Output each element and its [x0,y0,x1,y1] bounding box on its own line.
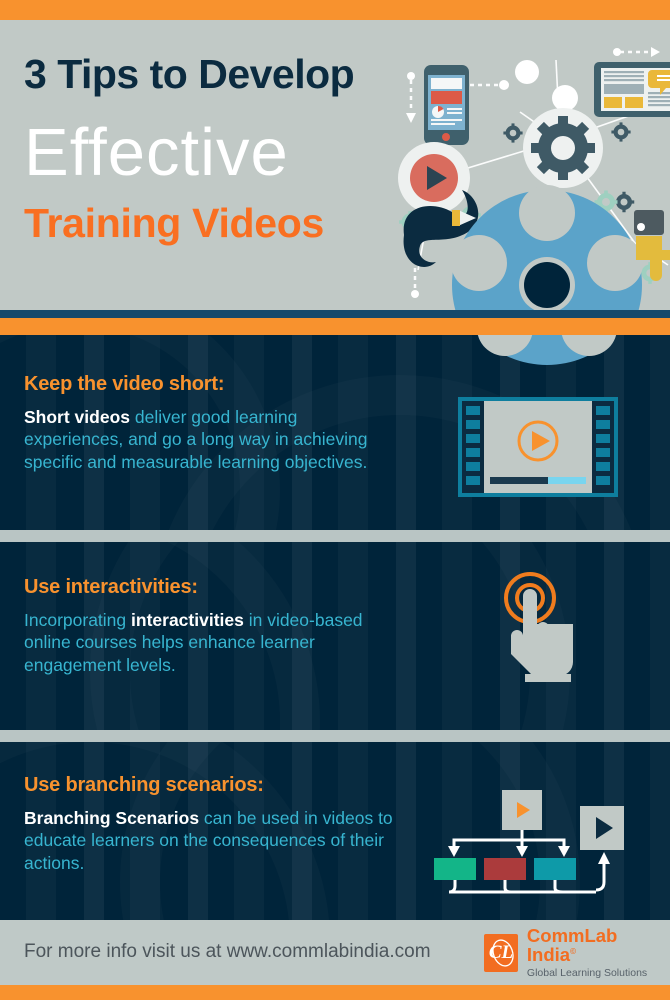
tip-2-lead: interactivities [131,610,244,630]
video-player-icon[interactable] [458,397,618,497]
tip-1-heading: Keep the video short: [24,373,394,396]
footer-text: For more info visit us at www.commlabind… [24,941,431,963]
click-hand-icon[interactable] [488,572,598,697]
page-title-line2: Effective [24,117,424,189]
tip-2-heading: Use interactivities: [24,576,394,599]
page-title-line3: Training Videos [24,203,424,244]
tip-1-content: Keep the video short: Short videos deliv… [24,373,394,473]
logo-mark-icon: CL [484,934,518,972]
branch-option-green [434,858,476,880]
logo-company-name: CommLab India© [527,927,656,964]
tip-1-lead: Short videos [24,407,130,427]
gear-icon [523,108,603,188]
logo-swirl-icon [484,934,522,972]
tip-section-3: Use branching scenarios: Branching Scena… [0,742,670,920]
tip-1-text: Short videos deliver good learning exper… [24,406,394,473]
tip-section-2: Use interactivities: Incorporating inter… [0,542,670,730]
logo-name-text: CommLab India [527,925,617,965]
film-reel-overflow [452,335,642,365]
tip-2-content: Use interactivities: Incorporating inter… [24,576,394,676]
header-bottom-rule [0,310,670,318]
infographic-page: 3 Tips to Develop Effective Training Vid… [0,0,670,1000]
smartphone-icon [424,65,469,145]
logo-text-group: CommLab India© Global Learning Solutions [527,927,656,979]
tip-2-text: Incorporating interactivities in video-b… [24,609,394,676]
branch-option-teal [534,858,576,880]
top-accent-bar [0,0,670,20]
bottom-accent-bar [0,985,670,1000]
tip-3-text: Branching Scenarios can be used in video… [24,807,404,874]
tip-section-1: Keep the video short: Short videos deliv… [0,335,670,530]
branching-diagram-icon[interactable] [424,784,634,894]
logo-tagline: Global Learning Solutions [527,968,656,979]
page-title-line1: 3 Tips to Develop [24,54,424,95]
section-divider-1 [0,530,670,542]
tablet-dashboard-icon [594,62,670,117]
branch-option-red [484,858,526,880]
header-accent-bar [0,318,670,335]
header-banner: 3 Tips to Develop Effective Training Vid… [0,20,670,310]
tip-2-pre: Incorporating [24,610,131,630]
section-divider-2 [0,730,670,742]
commlab-logo[interactable]: CL CommLab India© Global Learning Soluti… [484,933,656,973]
tip-3-lead: Branching Scenarios [24,808,199,828]
logo-copyright-mark: © [570,947,576,956]
tip-3-heading: Use branching scenarios: [24,774,404,797]
tip-3-content: Use branching scenarios: Branching Scena… [24,774,404,874]
header-title-group: 3 Tips to Develop Effective Training Vid… [24,54,424,244]
